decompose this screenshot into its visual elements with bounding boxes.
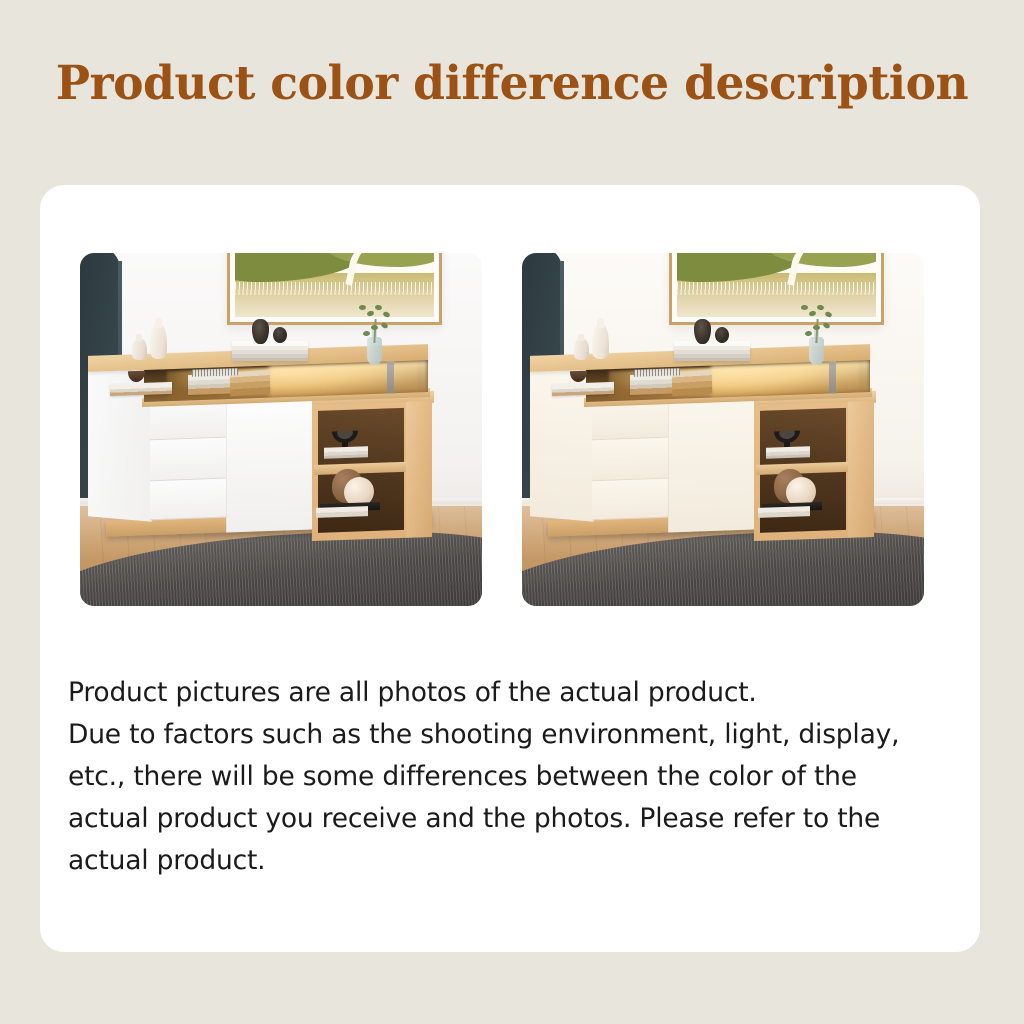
drawer-middle bbox=[592, 438, 668, 482]
disclaimer-line-1: Product pictures are all photos of the a… bbox=[68, 672, 958, 714]
eucalyptus-sprig bbox=[359, 305, 393, 341]
cabinet-door-right bbox=[226, 395, 312, 532]
drawer-stack bbox=[592, 394, 668, 521]
led-glow-secondary bbox=[269, 360, 428, 398]
open-shelf-side-panel bbox=[848, 401, 874, 538]
open-shelf-side-panel bbox=[406, 401, 432, 538]
open-shelf-body bbox=[754, 401, 872, 541]
niche-support-post bbox=[829, 359, 836, 395]
product-photo-right[interactable] bbox=[522, 253, 924, 606]
niche-book-stack-left bbox=[110, 382, 172, 396]
shelf-book-stack bbox=[324, 446, 368, 459]
drawer-bottom bbox=[150, 479, 226, 521]
top-book-stack bbox=[674, 341, 750, 361]
disclaimer-line-5: actual product. bbox=[68, 840, 958, 882]
tray-book-stack bbox=[758, 506, 810, 518]
pine-cone-large bbox=[694, 319, 711, 344]
niche-support-post bbox=[387, 359, 394, 395]
pine-cone-large bbox=[252, 319, 269, 344]
short-ceramic-vase bbox=[574, 339, 589, 360]
open-shelf-body bbox=[312, 401, 430, 541]
pine-cone-small bbox=[273, 327, 287, 343]
disclaimer-line-4: actual product you receive and the photo… bbox=[68, 798, 958, 840]
tall-ceramic-vase bbox=[150, 325, 167, 359]
disclaimer-text: Product pictures are all photos of the a… bbox=[68, 672, 958, 882]
sprig-stem bbox=[815, 319, 818, 343]
short-ceramic-vase bbox=[132, 339, 147, 360]
cabinet-door-right bbox=[668, 395, 754, 532]
disclaimer-line-2: Due to factors such as the shooting envi… bbox=[68, 714, 958, 756]
content-card: Product pictures are all photos of the a… bbox=[40, 185, 980, 952]
drawer-stack bbox=[150, 394, 226, 521]
led-glow-secondary bbox=[711, 360, 870, 398]
tall-ceramic-vase bbox=[592, 325, 609, 359]
product-photo-left[interactable] bbox=[80, 253, 482, 606]
sideboard-unit bbox=[522, 253, 924, 606]
drawer-middle bbox=[150, 438, 226, 482]
niche-book-stack-left bbox=[552, 382, 614, 396]
eucalyptus-sprig bbox=[801, 305, 835, 341]
page-title: Product color difference description bbox=[15, 56, 1008, 111]
sideboard-unit bbox=[80, 253, 482, 606]
product-photo-gallery bbox=[80, 253, 940, 606]
disclaimer-line-3: etc., there will be some differences bet… bbox=[68, 756, 958, 798]
drawer-bottom bbox=[592, 479, 668, 521]
pine-cone-small bbox=[715, 327, 729, 343]
sprig-stem bbox=[373, 319, 376, 343]
shelf-book-stack bbox=[766, 446, 810, 459]
top-book-stack bbox=[232, 341, 308, 361]
tray-book-stack bbox=[316, 506, 368, 518]
